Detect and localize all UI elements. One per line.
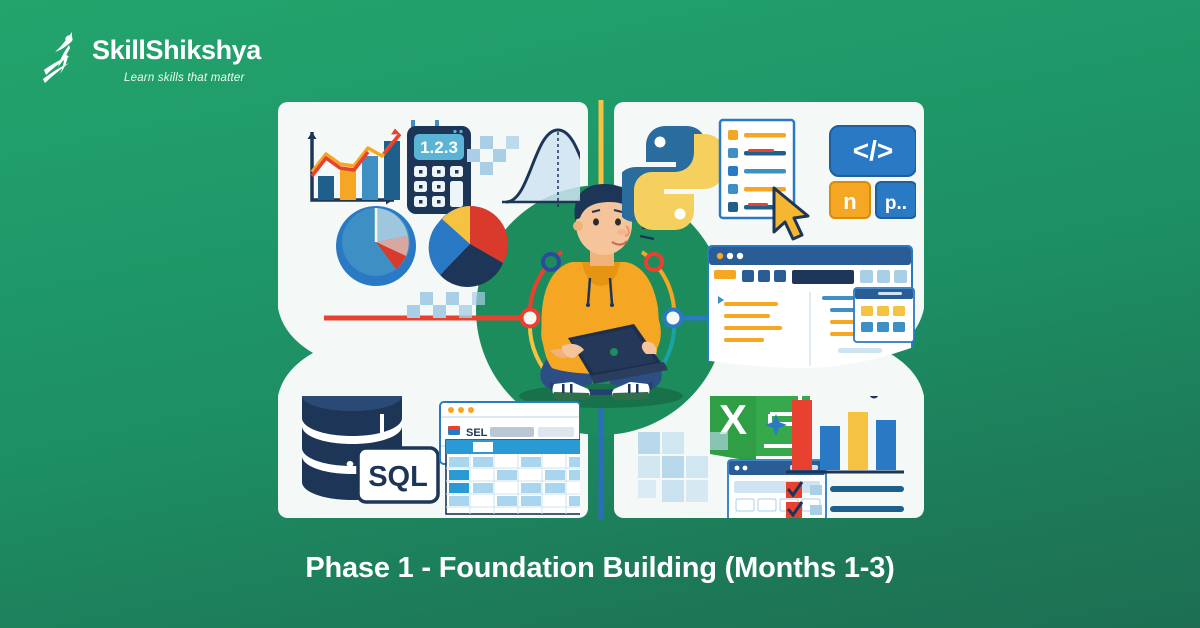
page-title: Phase 1 - Foundation Building (Months 1-… — [0, 552, 1200, 585]
eye-left — [593, 218, 599, 225]
sql-badge-label: SQL — [368, 461, 428, 493]
node-right-blue — [665, 310, 682, 327]
numpy-badge-label: n — [843, 189, 856, 214]
node-upper-right-red — [646, 254, 662, 270]
calculator-display: 1.2.3 — [420, 138, 458, 157]
brand-logo: SkillShikshya Learn skills that matter — [42, 30, 261, 88]
node-upper-left-blue — [543, 254, 559, 270]
brand-name: SkillShikshya — [92, 37, 261, 64]
sql-badge-icon: SQL — [358, 448, 438, 502]
code-badge-label: </> — [853, 135, 893, 166]
node-left-red — [522, 310, 539, 327]
pandas-badge-label: p.. — [885, 193, 907, 214]
brand-tagline: Learn skills that matter — [124, 72, 261, 84]
pandas-badge-icon: p.. — [876, 182, 916, 218]
code-tag-badge-icon: </> — [830, 126, 916, 176]
data-table-grid-icon — [446, 440, 594, 514]
numpy-badge-icon: n — [830, 182, 870, 218]
illustration-artwork: 1.2.3 — [262, 96, 940, 524]
runner-swoosh-icon — [42, 30, 82, 88]
query-text: SEL — [466, 427, 488, 439]
eye-right — [615, 218, 621, 225]
infographic-canvas: SkillShikshya Learn skills that matter — [0, 0, 1200, 628]
small-app-window-icon — [854, 288, 914, 342]
calculator-icon: 1.2.3 — [407, 120, 471, 214]
donut-pie-chart-icon — [336, 206, 416, 286]
